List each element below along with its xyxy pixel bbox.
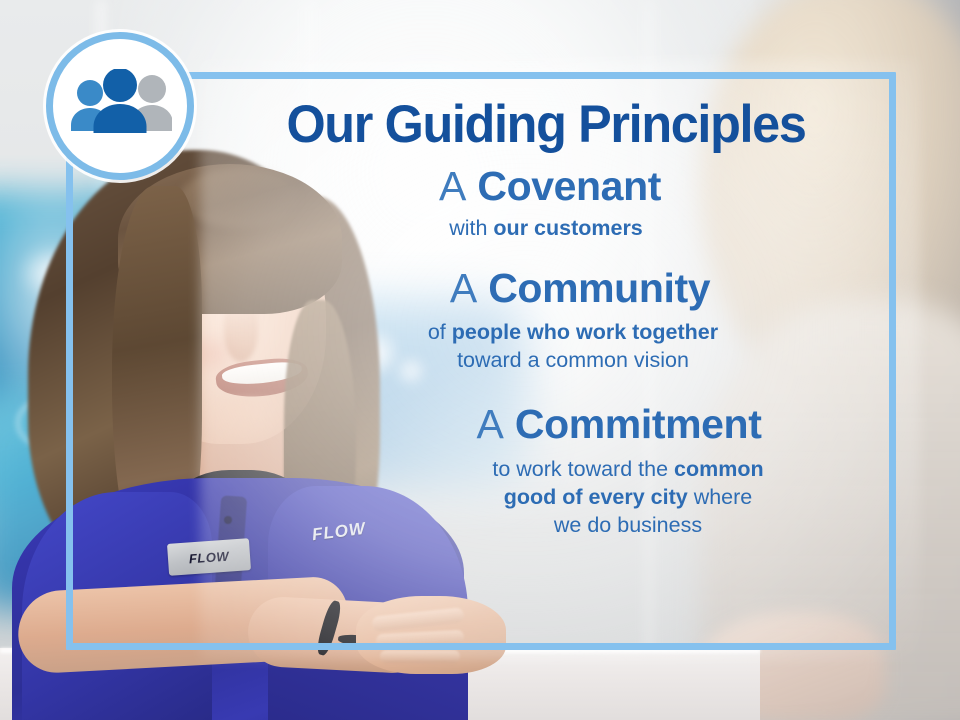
finger [380,650,460,663]
subtext-part: where [688,485,753,509]
subtext-line: of people who work together [264,319,882,347]
principle-subtext: to work toward the common good of every … [374,456,882,540]
subtext-line: good of every city where [374,484,882,512]
subtext-part: to work toward the [492,457,674,481]
principle-commitment: A Commitment to work toward the common g… [210,403,882,539]
principle-article: A [477,401,504,447]
principle-heading: A Community [278,267,882,310]
subtext-line: with our customers [210,215,882,243]
promo-banner: FLOW FLOW Our Guiding Principles [0,0,960,720]
principle-covenant: A Covenant with our customers [210,165,882,243]
principle-community: A Community of people who work together … [210,267,882,376]
principle-noun: Covenant [477,163,661,209]
subtext-line: toward a common vision [264,347,882,375]
principle-subtext: with our customers [210,215,882,243]
principles-content: Our Guiding Principles A Covenant with o… [210,84,882,636]
people-group-icon [68,69,172,143]
people-badge [46,32,194,180]
subtext-part-bold: good of every city [504,485,688,509]
principle-article: A [439,163,466,209]
principle-noun: Community [488,265,710,311]
subtext-part: with [449,216,493,240]
subtext-part: toward a common vision [457,348,689,372]
subtext-part: we do business [554,513,702,537]
subtext-part-bold: common [674,457,764,481]
subtext-line: we do business [374,512,882,540]
principle-heading: A Commitment [356,403,882,446]
principle-noun: Commitment [515,401,762,447]
subtext-part-bold: people who work together [452,320,718,344]
subtext-line: to work toward the common [374,456,882,484]
principle-heading: A Covenant [218,165,882,208]
subtext-part: of [428,320,452,344]
page-title: Our Guiding Principles [227,98,865,152]
principle-subtext: of people who work together toward a com… [264,319,882,375]
principle-article: A [450,265,477,311]
subtext-part-bold: our customers [493,216,642,240]
